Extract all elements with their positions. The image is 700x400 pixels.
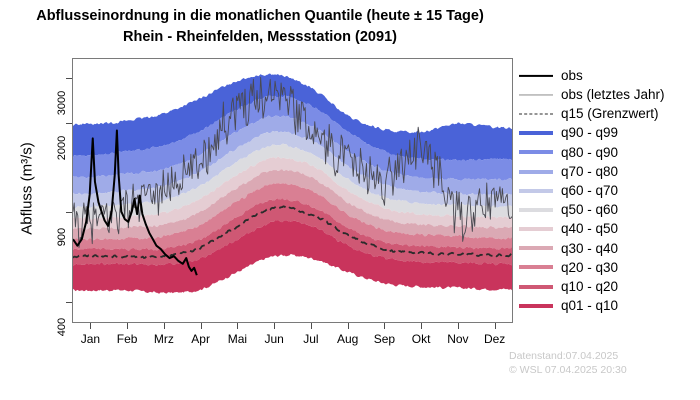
x-tick-mark [421, 323, 422, 329]
x-tick-mark [201, 323, 202, 329]
legend-item[interactable]: q40 - q50 [519, 220, 697, 239]
legend-item[interactable]: q20 - q30 [519, 258, 697, 277]
legend-swatch-icon [519, 241, 553, 255]
legend-item[interactable]: q30 - q40 [519, 239, 697, 258]
legend-swatch-icon [519, 88, 553, 102]
legend-item[interactable]: q50 - q60 [519, 200, 697, 219]
plot-svg [73, 59, 512, 322]
legend-swatch-icon [519, 107, 553, 121]
chart-title: Abflusseinordnung in die monatlichen Qua… [0, 6, 520, 47]
y-tick-label: 3000 [56, 77, 68, 129]
legend-swatch-icon [519, 126, 553, 140]
x-tick-mark [311, 323, 312, 329]
legend-label: q70 - q80 [561, 165, 618, 179]
legend-label: q01 - q10 [561, 299, 618, 313]
legend-label: q30 - q40 [561, 242, 618, 256]
legend-swatch-icon [519, 222, 553, 236]
legend-label: q40 - q50 [561, 222, 618, 236]
legend-label: q15 (Grenzwert) [561, 107, 659, 121]
y-tick-label: 900 [56, 211, 68, 263]
datenstand-text: Datenstand:07.04.2025 [509, 350, 618, 362]
legend-item[interactable]: obs [519, 66, 697, 85]
legend-label: obs [561, 69, 583, 83]
chart-title-line-1: Abflusseinordnung in die monatlichen Qua… [0, 6, 520, 27]
legend-label: q20 - q30 [561, 261, 618, 275]
legend-item[interactable]: q70 - q80 [519, 162, 697, 181]
x-tick-mark [458, 323, 459, 329]
chart-root: Abflusseinordnung in die monatlichen Qua… [0, 0, 700, 400]
legend-swatch-icon [519, 184, 553, 198]
y-axis-label: Abfluss (m³/s) [19, 99, 36, 279]
chart-legend: obsobs (letztes Jahr)q15 (Grenzwert)q90 … [519, 66, 697, 315]
x-tick-mark [164, 323, 165, 329]
legend-item[interactable]: obs (letztes Jahr) [519, 85, 697, 104]
x-tick-mark [127, 323, 128, 329]
legend-label: q60 - q70 [561, 184, 618, 198]
legend-item[interactable]: q90 - q99 [519, 124, 697, 143]
legend-item[interactable]: q10 - q20 [519, 277, 697, 296]
y-tick-label: 2000 [56, 122, 68, 174]
legend-item[interactable]: q80 - q90 [519, 143, 697, 162]
x-tick-mark [90, 323, 91, 329]
legend-swatch-icon [519, 145, 553, 159]
chart-title-line-2: Rhein - Rheinfelden, Messstation (2091) [0, 27, 520, 48]
legend-swatch-icon [519, 299, 553, 313]
legend-label: q50 - q60 [561, 203, 618, 217]
x-tick-label: Dez [473, 332, 517, 346]
x-tick-mark [495, 323, 496, 329]
x-tick-mark [348, 323, 349, 329]
legend-swatch-icon [519, 280, 553, 294]
legend-item[interactable]: q01 - q10 [519, 296, 697, 315]
legend-item[interactable]: q15 (Grenzwert) [519, 104, 697, 123]
legend-swatch-icon [519, 260, 553, 274]
legend-label: obs (letztes Jahr) [561, 88, 665, 102]
copyright-text: © WSL 07.04.2025 20:30 [509, 364, 627, 376]
y-tick-label: 400 [56, 301, 68, 353]
legend-label: q90 - q99 [561, 126, 618, 140]
x-tick-mark [237, 323, 238, 329]
legend-label: q80 - q90 [561, 146, 618, 160]
legend-item[interactable]: q60 - q70 [519, 181, 697, 200]
x-tick-mark [274, 323, 275, 329]
plot-area [72, 58, 513, 323]
legend-label: q10 - q20 [561, 280, 618, 294]
legend-swatch-icon [519, 165, 553, 179]
legend-swatch-icon [519, 203, 553, 217]
legend-swatch-icon [519, 69, 553, 83]
x-tick-mark [384, 323, 385, 329]
